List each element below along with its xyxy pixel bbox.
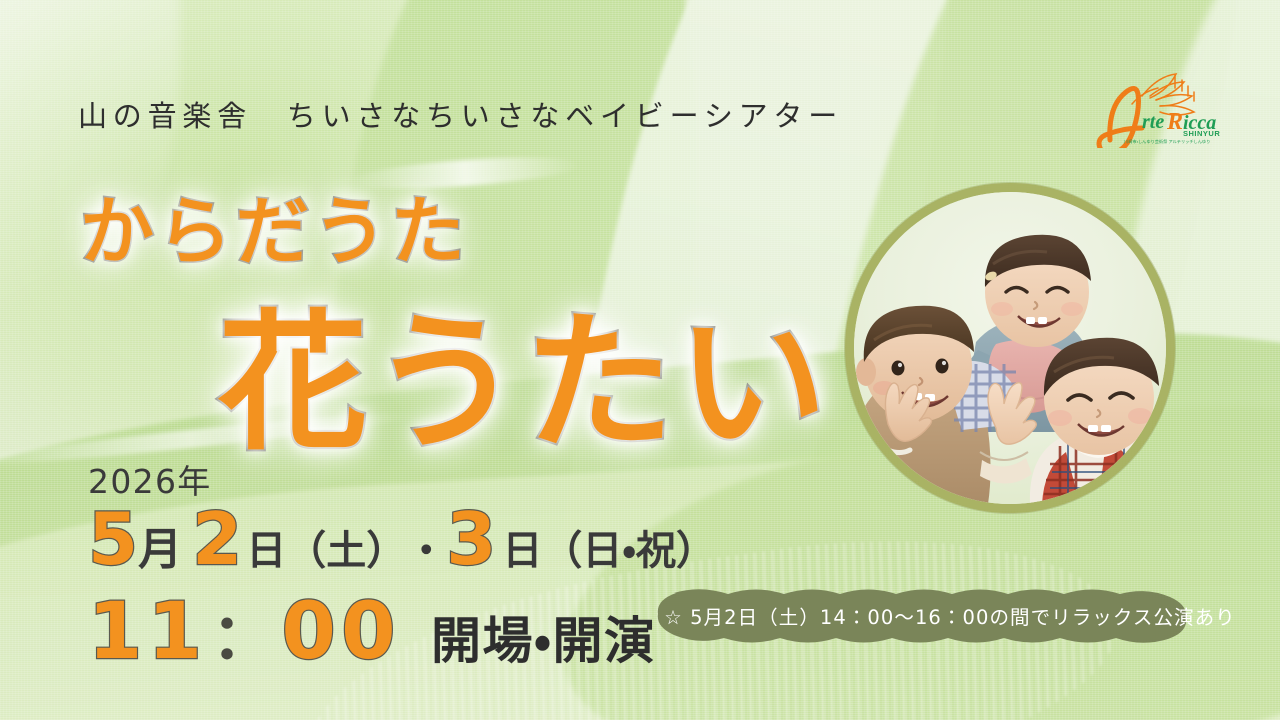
schedule-separator: ・ <box>406 531 446 571</box>
logo-letter-r: R <box>1166 109 1183 135</box>
schedule-month-unit: 月 <box>138 528 182 572</box>
babies-photo-illustration <box>854 192 1166 504</box>
photo-frame <box>845 183 1175 513</box>
schedule-date-line: 5 月 2 日（土） ・ 3 日（日・祝） <box>88 503 716 575</box>
schedule-day2-unit: 日（日・祝） <box>502 531 716 571</box>
schedule-open-label: 開場・開演 <box>431 616 656 666</box>
artericca-logo-mark: rte R icca SHINYURI 川崎市・しんゆり芸術祭 アルテリッチしん… <box>1070 66 1220 148</box>
schedule-month-number: 5 <box>88 503 138 575</box>
photo-circle <box>854 192 1166 504</box>
schedule-day2-number: 3 <box>446 503 496 575</box>
schedule-day1-number: 2 <box>192 503 242 575</box>
artericca-logo[interactable]: rte R icca SHINYURI 川崎市・しんゆり芸術祭 アルテリッチしん… <box>1070 66 1220 148</box>
schedule-time-hours: 11 <box>88 593 207 671</box>
schedule-year: 2026年 <box>88 455 716 503</box>
schedule-time-minutes: 00 <box>281 593 400 671</box>
page-title: 花うたい <box>218 262 830 479</box>
schedule-block: 2026年 5 月 2 日（土） ・ 3 日（日・祝） 11 ： 00 開場・開… <box>88 455 716 671</box>
schedule-time-line: 11 ： 00 開場・開演 <box>88 593 716 671</box>
relax-performance-badge: ☆ 5月2日（土）14：00〜16：00の間でリラックス公演あり <box>648 587 1252 643</box>
poster-root: 山の音楽舎 ちいさなちいさなベイビーシアター からだうた 花うたい 2026年 … <box>0 0 1280 720</box>
logo-word-arte: rte <box>1142 111 1164 133</box>
series-line: 山の音楽舎 ちいさなちいさなベイビーシアター <box>78 93 843 135</box>
schedule-day1-unit: 日（土） <box>246 531 406 571</box>
logo-tagline: 川崎市・しんゆり芸術祭 アルテリッチしんゆり <box>1124 138 1210 145</box>
schedule-time-colon: ： <box>211 606 273 668</box>
logo-shinyuri: SHINYURI <box>1183 129 1220 138</box>
relax-notice-text: ☆ 5月2日（土）14：00〜16：00の間でリラックス公演あり <box>648 587 1252 643</box>
